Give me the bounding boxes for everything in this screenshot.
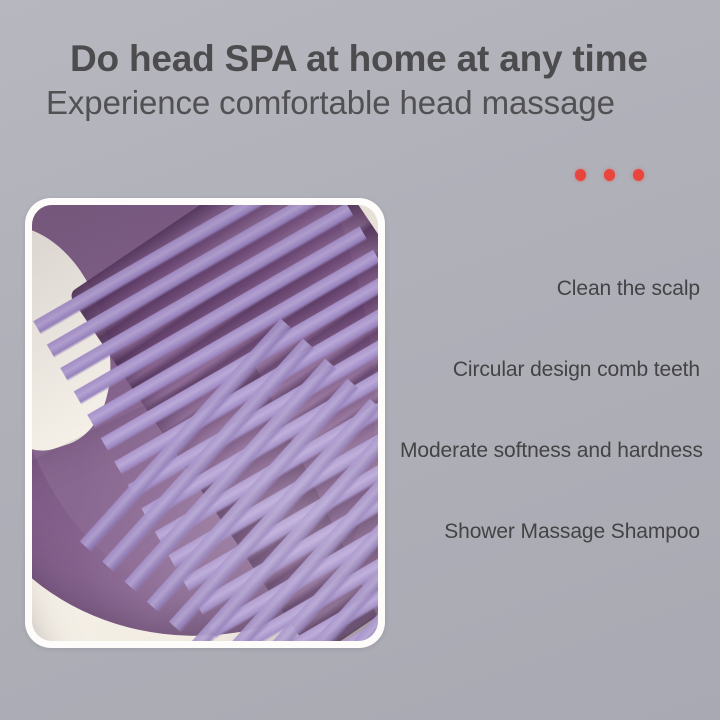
feature-item: Moderate softness and hardness xyxy=(400,440,700,461)
page-subtitle: Experience comfortable head massage xyxy=(46,84,696,122)
dot-icon xyxy=(604,169,615,181)
product-photo-card xyxy=(25,198,385,648)
dot-icon xyxy=(575,169,586,181)
feature-item: Clean the scalp xyxy=(400,278,700,299)
page-title: Do head SPA at home at any time xyxy=(70,38,670,80)
product-photo xyxy=(32,205,378,641)
product-promo-poster: Do head SPA at home at any time Experien… xyxy=(0,0,720,720)
feature-item: Shower Massage Shampoo xyxy=(400,521,700,542)
feature-item: Circular design comb teeth xyxy=(400,359,700,380)
feature-list: Clean the scalp Circular design comb tee… xyxy=(400,278,700,542)
decorative-dots xyxy=(575,169,644,181)
dot-icon xyxy=(633,169,644,181)
